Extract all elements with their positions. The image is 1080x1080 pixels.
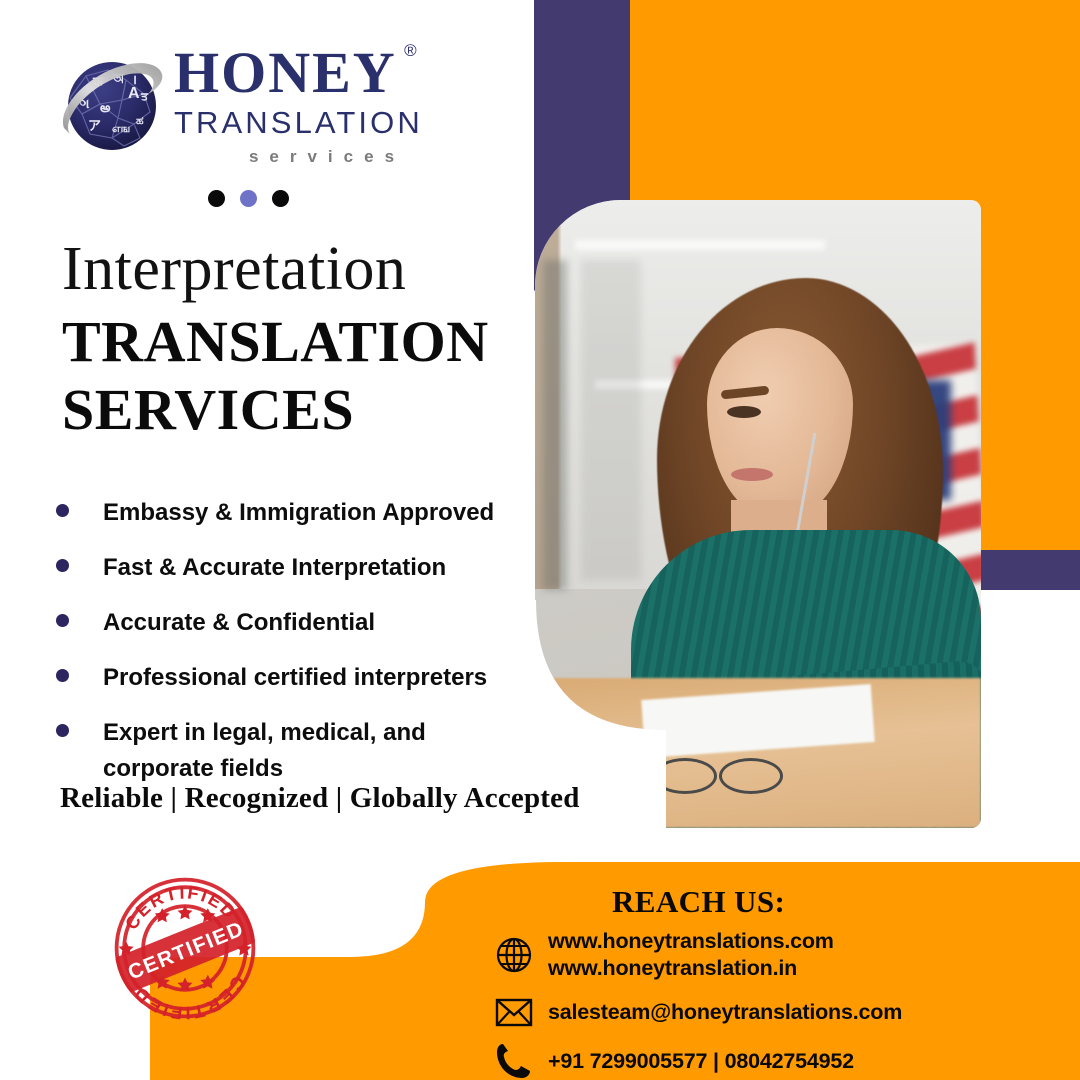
bullet-dot-icon [56,504,69,517]
bullet-dot-icon [56,724,69,737]
list-item: Accurate & Confidential [56,605,536,641]
registered-trademark-icon: ® [404,42,419,59]
logo-wordmark: HONEY® TRANSLATION services [174,44,474,167]
feature-list: Embassy & Immigration Approved Fast & Ac… [56,495,536,806]
poster-canvas: क অ । ગ అ A ਤ ア எங ಹ HONEY® TRANSLATION … [0,0,1080,1080]
website-line-1: www.honeytranslations.com [548,928,834,955]
bullet-dot-icon [56,559,69,572]
list-item-label: Expert in legal, medical, and corporate … [103,715,463,787]
headline-script: Interpretation [62,238,406,300]
person-eye [727,406,761,418]
globe-icon [492,936,536,974]
brand-logo[interactable]: क অ । ગ అ A ਤ ア எங ಹ HONEY® TRANSLATION … [56,44,476,174]
dot-3 [272,190,289,207]
logo-name-secondary: TRANSLATION [174,104,474,143]
bullet-dot-icon [56,614,69,627]
tagline: Reliable | Recognized | Globally Accepte… [60,782,580,815]
logo-name-tertiary: services [174,147,474,167]
page-title: TRANSLATION SERVICES [62,308,542,444]
svg-text:ಹ: ಹ [136,115,144,127]
contact-heading: REACH US: [612,884,785,920]
bullet-dot-icon [56,669,69,682]
svg-text:எங: எங [112,123,130,135]
headline-line-1: TRANSLATION [62,308,542,376]
list-item-label: Accurate & Confidential [103,605,375,641]
website-line-2: www.honeytranslation.in [548,955,834,982]
window-pane [581,260,641,580]
person-lips [731,468,773,481]
phone-icon [492,1042,536,1080]
envelope-icon [492,996,536,1028]
window-frame [543,260,567,590]
svg-text:అ: అ [100,100,111,115]
shelf-edge [575,240,825,250]
dot-1 [208,190,225,207]
list-item-label: Embassy & Immigration Approved [103,495,494,531]
list-item-label: Professional certified interpreters [103,660,487,696]
certified-stamp: CERTIFIED CERTIFIED CERTIFIED [104,872,266,1024]
globe-multilingual-icon: क অ । ગ అ A ਤ ア எங ಹ [56,50,166,160]
list-item: Expert in legal, medical, and corporate … [56,715,536,787]
list-item: Embassy & Immigration Approved [56,495,536,531]
svg-text:ਤ: ਤ [140,91,149,103]
list-item: Professional certified interpreters [56,660,536,696]
dot-2 [240,190,257,207]
logo-honey-text: HONEY [174,40,397,105]
headline-line-2: SERVICES [62,376,542,444]
decorative-dots [208,190,289,207]
contact-row-phone[interactable]: +91 7299005577 | 08042754952 [492,1042,1072,1080]
contact-row-email[interactable]: salesteam@honeytranslations.com [492,996,1072,1028]
contact-list: www.honeytranslations.com www.honeytrans… [492,928,1072,1080]
svg-text:A: A [128,85,140,102]
list-item-label: Fast & Accurate Interpretation [103,550,446,586]
svg-text:ア: ア [88,118,101,133]
list-item: Fast & Accurate Interpretation [56,550,536,586]
contact-email-text: salesteam@honeytranslations.com [548,999,902,1026]
contact-website-text: www.honeytranslations.com www.honeytrans… [548,928,834,982]
contact-phone-text: +91 7299005577 | 08042754952 [548,1048,854,1075]
logo-name-primary: HONEY® [174,44,397,102]
contact-row-website[interactable]: www.honeytranslations.com www.honeytrans… [492,928,1072,982]
